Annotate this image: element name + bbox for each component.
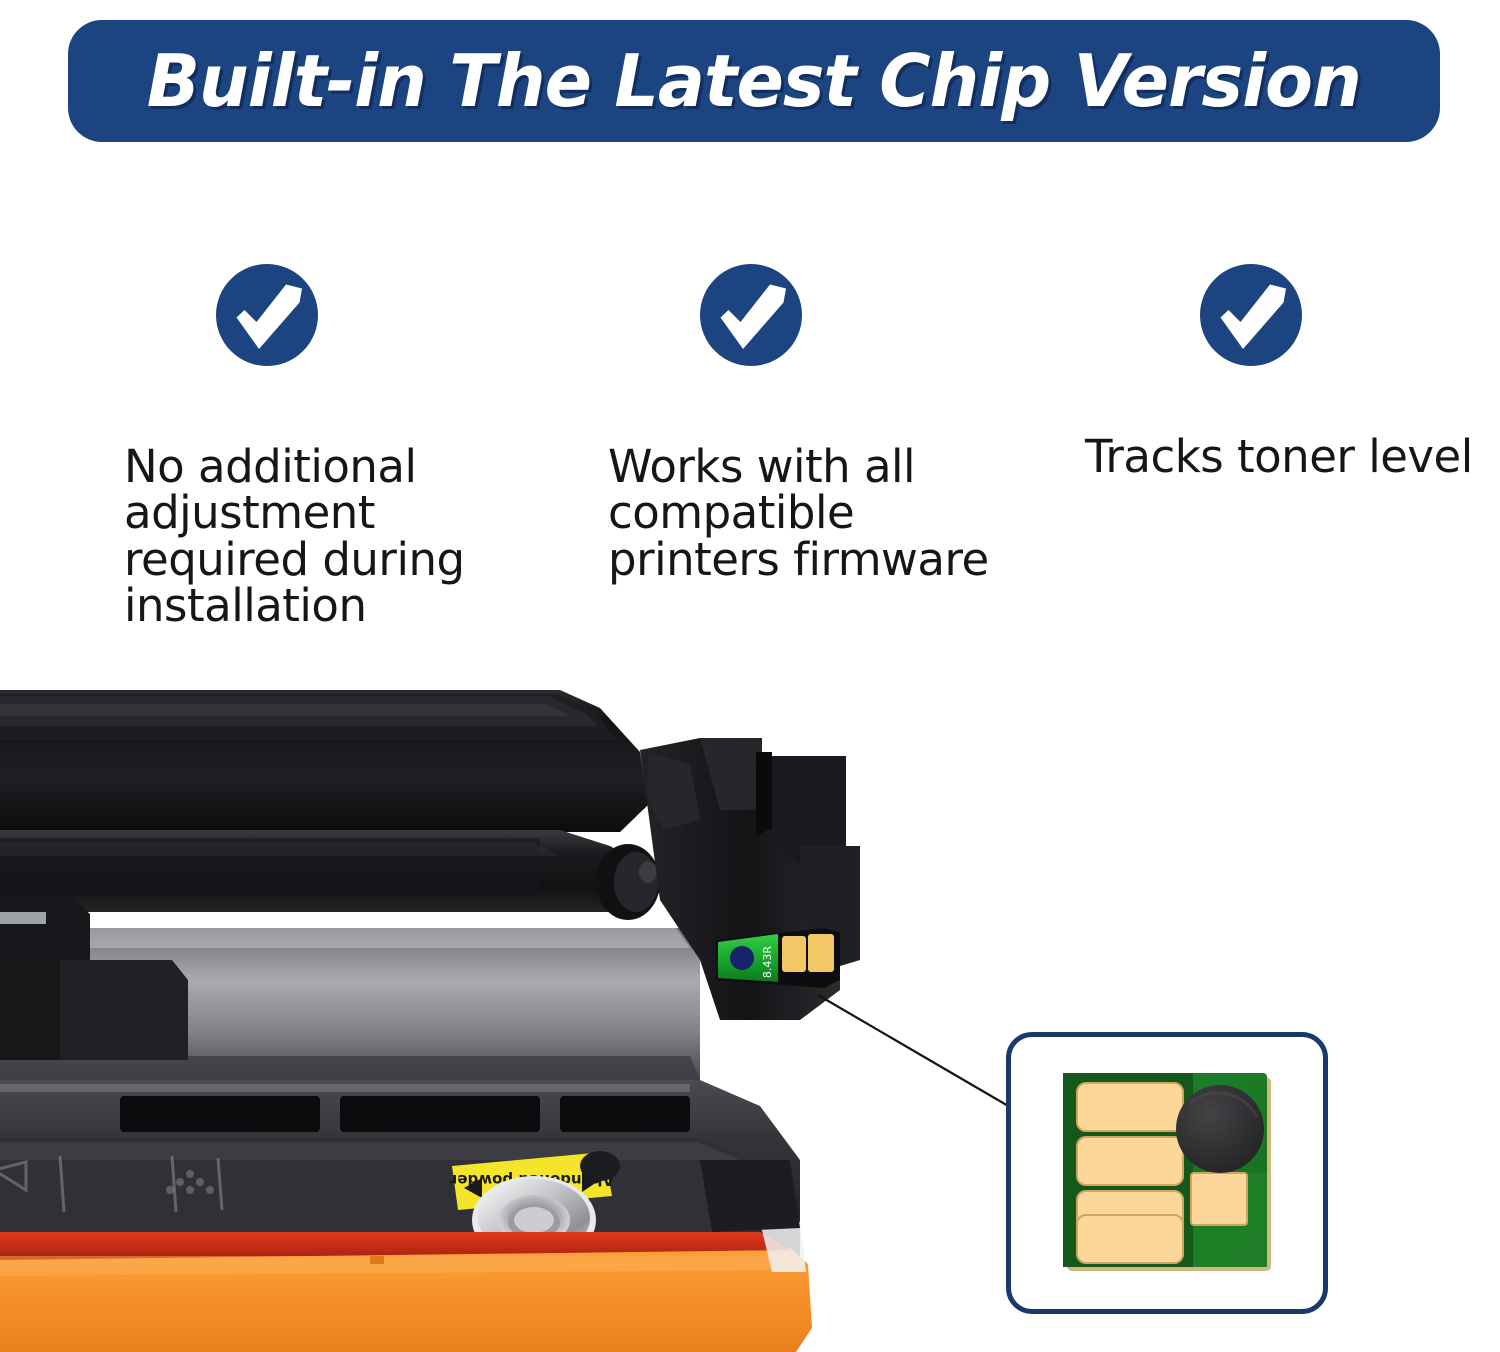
chip-closeup-box	[1006, 1032, 1328, 1314]
chip-small-pad	[1191, 1173, 1247, 1225]
feature-item-no-adjustment: No additional adjustment required during…	[214, 262, 320, 368]
feature-item-firmware: Works with all compatible printers firmw…	[698, 262, 804, 368]
check-circle-icon	[698, 262, 804, 368]
feature-label: Tracks toner level	[1085, 434, 1500, 480]
feature-label: No additional adjustment required during…	[124, 444, 594, 629]
page-title: Built-in The Latest Chip Version	[147, 45, 1361, 117]
check-circle-icon	[1198, 262, 1304, 368]
cartridge-pin	[580, 1151, 620, 1181]
callout-leader-line	[818, 995, 1010, 1107]
chip-contact-pad	[1077, 1083, 1183, 1131]
feature-list: No additional adjustment required during…	[0, 262, 1500, 662]
chip-dot-icon	[730, 946, 754, 970]
chip-pad	[808, 934, 834, 972]
chip-ic-icon	[1176, 1085, 1264, 1173]
base-notch	[370, 1256, 384, 1264]
chip-pad	[782, 936, 806, 972]
chip-label: 8.43R	[761, 946, 774, 978]
feature-item-toner-level: Tracks toner level	[1198, 262, 1304, 368]
check-circle-icon	[214, 262, 320, 368]
feature-label: Works with all compatible printers firmw…	[608, 444, 1078, 583]
header-banner: Built-in The Latest Chip Version	[68, 20, 1440, 142]
chip-contact-pad	[1077, 1215, 1183, 1263]
chip-contact-pad	[1077, 1137, 1183, 1185]
